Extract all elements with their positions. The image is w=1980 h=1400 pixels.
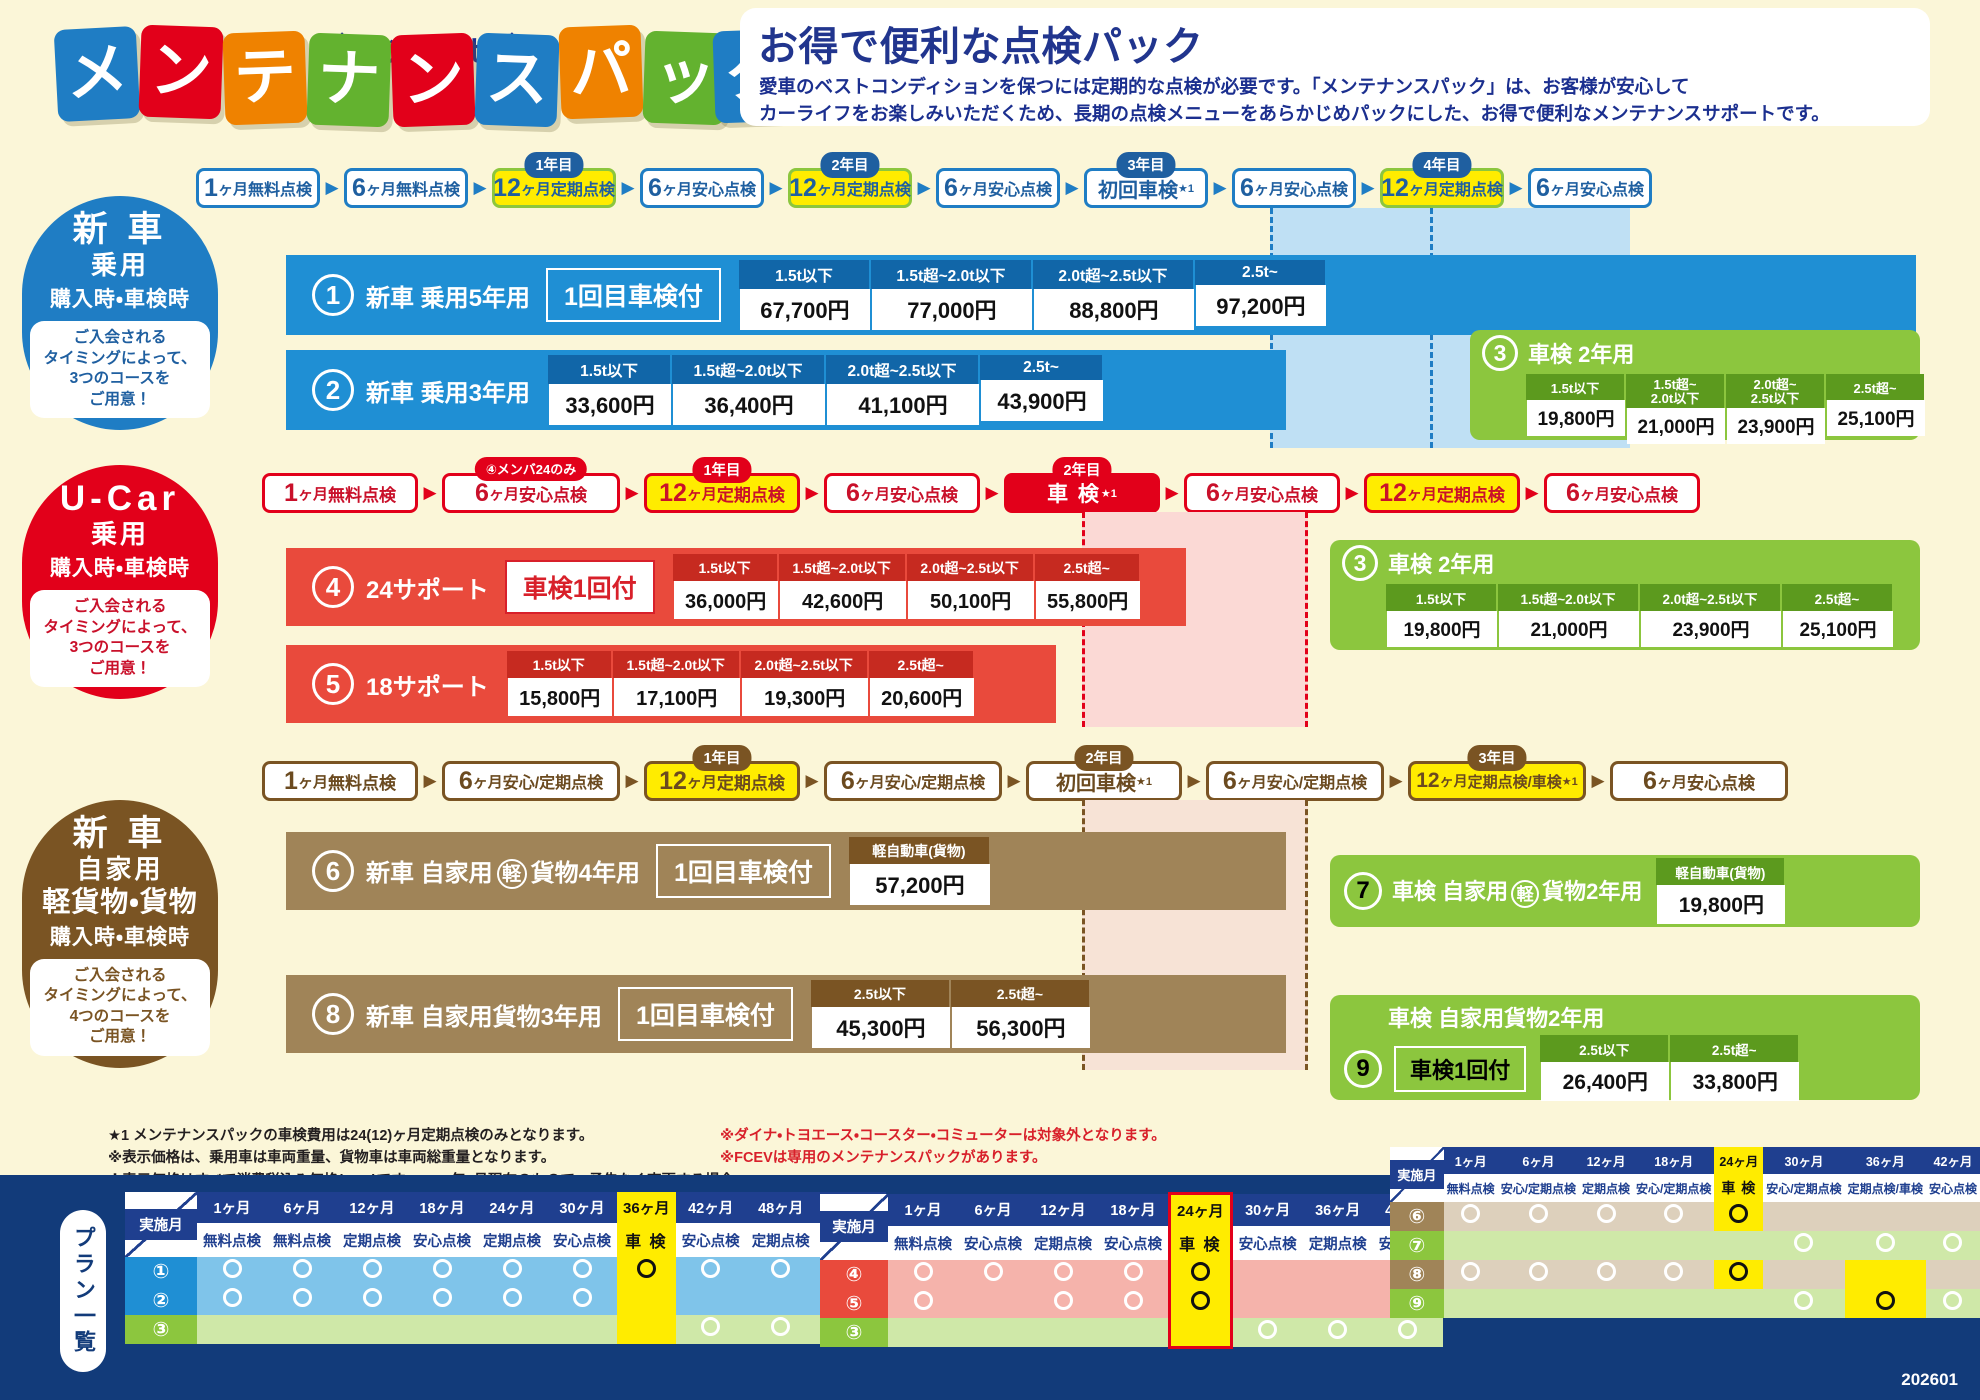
price-value: 25,100円 — [1783, 611, 1893, 647]
price-header: 2.5t以下 — [1540, 1035, 1668, 1062]
plan-bar-5: 5 18サポート 1.5t以下15,800円 1.5t超~2.0t以下17,10… — [286, 645, 1056, 723]
month-header: 1ヶ月 — [1444, 1147, 1498, 1174]
zone-divider-right — [1305, 512, 1308, 727]
month-header-highlight: 24ヶ月 — [1714, 1147, 1763, 1174]
month-header: 36ヶ月 — [1845, 1147, 1926, 1174]
circle-icon — [1597, 1204, 1616, 1223]
price-header: 2.0t超~ 2.5t以下 — [1726, 374, 1824, 408]
logo-tile-6: パ — [558, 25, 643, 120]
arrow-icon: ▶ — [1586, 771, 1610, 791]
timeline-cell-6m-3[interactable]: 6ヶ月安心点検 — [1184, 473, 1340, 513]
price-col: 2.5t超~20,600円 — [869, 651, 975, 717]
cell-empty — [1498, 1289, 1579, 1318]
circle-icon — [293, 1259, 312, 1278]
date-code: 202601 — [1901, 1370, 1958, 1390]
cell-mark — [547, 1257, 617, 1286]
kind-header: 安心点検 — [1926, 1174, 1980, 1202]
arrow-icon: ▶ — [1520, 483, 1544, 503]
cell-mark — [1498, 1260, 1579, 1289]
badge-line-3: 購入時・車検時 — [22, 283, 218, 313]
circle-icon — [701, 1317, 720, 1336]
cell-mark — [1444, 1260, 1498, 1289]
timeline-cell-6m-3[interactable]: 6ヶ月安心点検 — [936, 168, 1060, 208]
kind-header: 定期点検 — [337, 1223, 407, 1257]
timeline-cell-12m-y2[interactable]: 2年目 12ヶ月定期点検 — [788, 168, 912, 208]
price-col: 2.0t超~2.5t以下19,300円 — [741, 651, 869, 717]
corner-label: 実施月 — [1390, 1160, 1444, 1189]
plan-number: 1 — [312, 274, 354, 316]
cell-mark — [1444, 1202, 1498, 1231]
cell-empty — [407, 1315, 477, 1344]
price-table-2: 1.5t以下33,600円 1.5t超~2.0t以下36,400円 2.0t超~… — [548, 355, 1104, 426]
cell-empty — [1579, 1289, 1633, 1318]
price-value: 45,300円 — [812, 1007, 950, 1048]
price-value: 15,800円 — [508, 678, 612, 716]
plan-number: 3 — [1342, 545, 1378, 581]
timeline-shinsha-kamotsu: 1ヶ月無料点検 ▶ 6ヶ月安心/定期点検 ▶ 1年目 12ヶ月定期点検 ▶ 6ヶ… — [262, 760, 1788, 802]
price-value: 23,900円 — [1641, 611, 1781, 647]
section-badge-shinsha-joyo: 新 車 乗用 購入時・車検時 ご入会される タイミングによって、 3つのコースを… — [22, 196, 218, 430]
kind-header: 安心点検 — [407, 1223, 477, 1257]
cell-mark — [477, 1257, 547, 1286]
cell-mark — [267, 1257, 337, 1286]
row-number: ③ — [820, 1318, 888, 1347]
timeline-cell-6m-2[interactable]: 6ヶ月安心/定期点検 — [824, 761, 1002, 801]
price-header: 2.5t超~ — [1670, 1035, 1798, 1062]
price-header: 2.0t超~2.5t以下 — [1033, 260, 1193, 289]
plan-number: 7 — [1344, 872, 1382, 910]
timeline-cell-12m-2[interactable]: 12ヶ月定期点検 — [1364, 473, 1520, 513]
price-value: 20,600円 — [870, 678, 974, 716]
timeline-cell-6m-2[interactable]: 6ヶ月安心点検 — [640, 168, 764, 208]
plan-list-title: プラン一覧 — [60, 1210, 106, 1372]
table-row: ④ — [820, 1260, 1443, 1289]
arrow-icon: ▶ — [616, 178, 640, 198]
timeline-cell-6m-5[interactable]: 6ヶ月安心点検 — [1528, 168, 1652, 208]
circle-icon — [1124, 1262, 1143, 1281]
year-tag: 4年目 — [1412, 152, 1471, 178]
kind-header: 安心/定期点検 — [1763, 1174, 1844, 1202]
cell-empty — [337, 1315, 407, 1344]
price-value: 21,000円 — [1499, 611, 1639, 647]
year-tag: 1年目 — [692, 745, 751, 771]
arrow-icon: ▶ — [1208, 178, 1232, 198]
price-col: 1.5t以下19,800円 — [1526, 374, 1626, 445]
cell-empty — [1633, 1231, 1714, 1260]
plan-grid-blue: 実施月 1ヶ月 6ヶ月 12ヶ月 18ヶ月 24ヶ月 30ヶ月 36ヶ月 42ヶ… — [125, 1192, 886, 1344]
kind-header: 安心点検 — [676, 1223, 746, 1257]
cell-mark — [958, 1260, 1028, 1289]
circle-icon — [1529, 1204, 1548, 1223]
cell-mark — [1303, 1318, 1373, 1347]
circle-icon — [1664, 1262, 1683, 1281]
section-badge-shinsha-kamotsu: 新 車 自家用 軽貨物・貨物 購入時・車検時 ご入会される タイミングによって、… — [22, 800, 218, 1068]
price-header: 1.5t以下 — [507, 651, 611, 678]
plan-bar-3b: 3 車検 2年用 1.5t以下19,800円 1.5t超~2.0t以下21,00… — [1330, 540, 1920, 650]
price-header: 1.5t以下 — [1526, 374, 1624, 400]
cell-empty — [1444, 1289, 1498, 1318]
cell-mark — [676, 1315, 746, 1344]
circle-icon — [293, 1288, 312, 1307]
badge-line-2: 自家用 — [22, 854, 218, 885]
cell-empty-highlight — [1714, 1231, 1763, 1260]
price-header: 2.0t超~2.5t以下 — [741, 651, 867, 678]
arrow-icon: ▶ — [800, 771, 824, 791]
year-tag: 2年目 — [1052, 457, 1111, 483]
circle-icon — [1461, 1204, 1480, 1223]
plan-bar-9: 車検 自家用貨物2年用 9 車検1回付 2.5t以下26,400円 2.5t超~… — [1330, 995, 1920, 1100]
circle-icon — [1191, 1291, 1210, 1310]
month-header: 42ヶ月 — [1926, 1147, 1980, 1174]
timeline-cell-shaken-y2[interactable]: 2年目 初回車検★1 — [1026, 761, 1182, 801]
kind-header: 定期点検 — [477, 1223, 547, 1257]
price-col: 2.5t超~25,100円 — [1826, 374, 1926, 445]
timeline-cell-6m-3[interactable]: 6ヶ月安心/定期点検 — [1206, 761, 1384, 801]
circle-icon — [1664, 1204, 1683, 1223]
footnotes-right: ※ダイナ・トヨエース・コースター・コミューターは対象外となります。 ※FCEVは… — [720, 1125, 1320, 1170]
circle-icon — [1794, 1233, 1813, 1252]
month-header: 18ヶ月 — [1098, 1194, 1170, 1227]
price-table-9: 2.5t以下26,400円 2.5t超~33,800円 — [1540, 1035, 1800, 1102]
cell-empty — [547, 1315, 617, 1344]
plan-bar-2: 2 新車 乗用3年用 1.5t以下33,600円 1.5t超~2.0t以下36,… — [286, 350, 1286, 430]
price-value: 33,600円 — [549, 384, 671, 425]
plan-name: 24サポート — [366, 570, 489, 605]
month-header-highlight: 36ヶ月 — [617, 1192, 676, 1223]
cell-empty — [1926, 1202, 1980, 1231]
price-header: 1.5t超~ 2.0t以下 — [1626, 374, 1724, 408]
price-value: 57,200円 — [850, 864, 990, 905]
cell-mark — [197, 1257, 267, 1286]
price-value: 50,100円 — [908, 581, 1034, 619]
cell-mark — [1633, 1202, 1714, 1231]
circle-icon — [363, 1288, 382, 1307]
arrow-icon: ▶ — [1182, 771, 1206, 791]
arrow-icon: ▶ — [468, 178, 492, 198]
price-value: 77,000円 — [872, 289, 1032, 330]
price-header: 1.5t超~2.0t以下 — [779, 554, 905, 581]
kind-header: 安心点検 — [1231, 1226, 1303, 1260]
table-row: ⑧ — [1390, 1260, 1980, 1289]
month-header: 30ヶ月 — [1231, 1194, 1303, 1227]
year-tag: 3年目 — [1467, 745, 1526, 771]
arrow-icon: ▶ — [1060, 178, 1084, 198]
circle-icon — [1729, 1262, 1748, 1281]
plan-tag: 1回目車検付 — [656, 844, 831, 898]
cell-empty-highlight — [1714, 1289, 1763, 1318]
price-header: 1.5t超~2.0t以下 — [1498, 584, 1638, 611]
plan-number: 6 — [312, 850, 354, 892]
price-value: 42,600円 — [780, 581, 906, 619]
plan-name: 新車 自家用貨物3年用 — [366, 997, 602, 1032]
price-value: 19,800円 — [1657, 885, 1785, 924]
month-header: 1ヶ月 — [197, 1192, 267, 1223]
circle-icon — [1191, 1262, 1210, 1281]
table-row: ③ — [820, 1318, 1443, 1347]
kind-header: 安心点検 — [547, 1223, 617, 1257]
price-table-7: 軽自動車(貨物)19,800円 — [1656, 858, 1786, 925]
timeline-cell-6m-4[interactable]: 6ヶ月安心点検 — [1544, 473, 1700, 513]
plan-number: 5 — [312, 663, 354, 705]
month-header: 12ヶ月 — [1579, 1147, 1633, 1174]
timeline-cell-1m[interactable]: 1ヶ月無料点検 — [262, 761, 418, 801]
price-table-5: 1.5t以下15,800円 1.5t超~2.0t以下17,100円 2.0t超~… — [507, 651, 975, 717]
cell-mark — [267, 1286, 337, 1315]
table-row-kinds: 無料点検 無料点検 定期点検 安心点検 定期点検 安心点検 車 検 安心点検 定… — [125, 1223, 886, 1257]
timeline-cell-shaken-y3[interactable]: 3年目 初回車検★1 — [1084, 168, 1208, 208]
kind-header: 定期点検 — [1028, 1226, 1098, 1260]
month-header: 36ヶ月 — [1303, 1194, 1373, 1227]
cell-mark — [1926, 1231, 1980, 1260]
badge-note: ご入会される タイミングによって、 3つのコースを ご用意！ — [30, 590, 210, 687]
corner-cell: 実施月 — [1390, 1147, 1444, 1202]
timeline-cell-6m-4[interactable]: 6ヶ月安心点検 — [1232, 168, 1356, 208]
price-col: 2.5t以下45,300円 — [811, 980, 951, 1049]
cell-mark — [1231, 1318, 1303, 1347]
circle-icon — [914, 1291, 933, 1310]
circle-icon — [1597, 1262, 1616, 1281]
price-value: 41,100円 — [827, 384, 979, 425]
price-header: 1.5t以下 — [548, 355, 670, 384]
kind-header: 定期点検 — [746, 1223, 816, 1257]
cell-empty-highlight — [1170, 1318, 1232, 1347]
price-col: 1.5t以下33,600円 — [548, 355, 672, 426]
cell-mark-highlight — [1714, 1202, 1763, 1231]
cell-empty — [1845, 1202, 1926, 1231]
timeline-ucar-joyo: 1ヶ月無料点検 ▶ ④メンバ24のみ 6ヶ月安心点検 ▶ 1年目 12ヶ月定期点… — [262, 472, 1700, 514]
badge-line-2: 乗用 — [22, 519, 218, 550]
footnote-line: ※ダイナ・トヨエース・コースター・コミューターは対象外となります。 — [720, 1125, 1320, 1147]
circle-icon — [433, 1259, 452, 1278]
timeline-cell-shaken-y2[interactable]: 2年目 車 検★1 — [1004, 473, 1160, 513]
arrow-icon: ▶ — [320, 178, 344, 198]
header-panel: お得で便利な点検パック 愛車のベストコンディションを保つには定期的な点検が必要で… — [740, 8, 1930, 126]
arrow-icon: ▶ — [980, 483, 1004, 503]
cell-mark — [1498, 1202, 1579, 1231]
footnote-line: ※FCEVは専用のメンテナンスパックがあります。 — [720, 1147, 1320, 1169]
cell-mark — [746, 1257, 816, 1286]
cell-mark — [888, 1260, 958, 1289]
kind-header: 無料点検 — [888, 1226, 958, 1260]
price-col: 2.5t超~25,100円 — [1782, 584, 1894, 648]
plan-number: 9 — [1344, 1050, 1382, 1088]
timeline-cell-6m-member24[interactable]: ④メンバ24のみ 6ヶ月安心点検 — [442, 473, 620, 513]
cell-mark — [676, 1257, 746, 1286]
cell-mark — [1633, 1260, 1714, 1289]
timeline-cell-6m[interactable]: 6ヶ月無料点検 — [344, 168, 468, 208]
price-header: 軽自動車(貨物) — [849, 837, 989, 864]
cell-mark — [407, 1257, 477, 1286]
logo-tile-0: メ — [54, 26, 141, 122]
circle-icon — [1124, 1291, 1143, 1310]
cell-mark — [746, 1315, 816, 1344]
timeline-cell-1m[interactable]: 1ヶ月無料点検 — [196, 168, 320, 208]
price-header: 1.5t超~2.0t以下 — [672, 355, 824, 384]
timeline-cell-12m-y1[interactable]: 1年目 12ヶ月定期点検 — [644, 473, 800, 513]
badge-line-2b: 軽貨物・貨物 — [22, 885, 218, 919]
circle-icon — [984, 1262, 1003, 1281]
cell-mark — [1579, 1202, 1633, 1231]
price-value: 88,800円 — [1034, 289, 1194, 330]
cell-mark — [337, 1286, 407, 1315]
row-number: ③ — [125, 1315, 197, 1344]
price-col: 2.0t超~2.5t以下23,900円 — [1640, 584, 1782, 648]
month-header: 18ヶ月 — [407, 1192, 477, 1223]
table-row-kinds: 無料点検 安心点検 定期点検 安心点検 車 検 安心点検 定期点検 安心点検 — [820, 1226, 1443, 1260]
price-col: 2.5t超~56,300円 — [951, 980, 1091, 1049]
timeline-cell-6m[interactable]: 6ヶ月安心/定期点検 — [442, 761, 620, 801]
circle-icon — [1794, 1291, 1813, 1310]
circle-icon — [1258, 1320, 1277, 1339]
circle-icon — [1529, 1262, 1548, 1281]
cell-empty — [1763, 1260, 1844, 1289]
timeline-cell-12m-y1[interactable]: 1年目 12ヶ月定期点検 — [644, 761, 800, 801]
timeline-cell-12m-y3[interactable]: 3年目 12ヶ月定期点検/車検★1 — [1408, 761, 1586, 801]
circle-icon — [1328, 1320, 1347, 1339]
month-header: 12ヶ月 — [1028, 1194, 1098, 1227]
price-header: 1.5t以下 — [739, 260, 869, 289]
price-value: 67,700円 — [740, 289, 870, 330]
price-col: 1.5t以下15,800円 — [507, 651, 613, 717]
price-col: 1.5t超~2.0t以下42,600円 — [779, 554, 907, 620]
arrow-icon: ▶ — [418, 483, 442, 503]
table-row: ① — [125, 1257, 886, 1286]
timeline-shinsha-joyo: 1ヶ月無料点検 ▶ 6ヶ月無料点検 ▶ 1年目 12ヶ月定期点検 ▶ 6ヶ月安心… — [196, 167, 1652, 209]
price-value: 23,900円 — [1727, 408, 1825, 444]
cell-mark-highlight — [1845, 1289, 1926, 1318]
circle-icon — [1943, 1291, 1962, 1310]
circle-icon — [433, 1288, 452, 1307]
month-header: 30ヶ月 — [547, 1192, 617, 1223]
cell-empty — [1231, 1289, 1303, 1318]
plan-number: 8 — [312, 993, 354, 1035]
plan-bar-4: 4 24サポート 車検1回付 1.5t以下36,000円 1.5t超~2.0t以… — [286, 548, 1186, 626]
kind-header: 無料点検 — [1444, 1174, 1498, 1202]
plan-number: 3 — [1482, 335, 1518, 371]
price-table-3b: 1.5t以下19,800円 1.5t超~2.0t以下21,000円 2.0t超~… — [1386, 584, 1894, 648]
timeline-cell-6m-4[interactable]: 6ヶ月安心点検 — [1610, 761, 1788, 801]
table-row-months: 実施月 1ヶ月 6ヶ月 12ヶ月 18ヶ月 24ヶ月 30ヶ月 36ヶ月 42ヶ… — [1390, 1147, 1980, 1174]
kind-header-highlight: 車 検 — [617, 1223, 676, 1257]
badge-line-3: 購入時・車検時 — [22, 552, 218, 582]
corner-label: 実施月 — [125, 1209, 197, 1240]
cell-empty — [676, 1286, 746, 1315]
table-row: ⑤ — [820, 1289, 1443, 1318]
plan-name: 車検 自家用貨物2年用 — [1388, 1001, 1604, 1033]
cell-mark — [888, 1289, 958, 1318]
footnote-line: ★1 メンテナンスパックの車検費用は24(12)ヶ月定期点検のみとなります。 — [108, 1125, 748, 1147]
cell-mark — [1028, 1260, 1098, 1289]
table-row-kinds: 無料点検 安心/定期点検 定期点検 安心/定期点検 車 検 安心/定期点検 定期… — [1390, 1174, 1980, 1202]
row-number: ⑨ — [1390, 1289, 1444, 1318]
circle-icon — [503, 1288, 522, 1307]
year-tag: 1年目 — [692, 457, 751, 483]
kind-header: 安心点検 — [958, 1226, 1028, 1260]
table-row: ② — [125, 1286, 886, 1315]
kind-header-highlight: 車 検 — [1170, 1226, 1232, 1260]
row-number: ② — [125, 1286, 197, 1315]
circle-icon — [1461, 1262, 1480, 1281]
arrow-icon: ▶ — [418, 771, 442, 791]
logo-tile-2: テ — [222, 31, 307, 126]
price-col: 1.5t超~2.0t以下17,100円 — [613, 651, 741, 717]
cell-mark — [1763, 1289, 1844, 1318]
plan-bar-1: 1 新車 乗用5年用 1回目車検付 1.5t以下67,700円 1.5t超~2.… — [286, 255, 1916, 335]
month-header: 6ヶ月 — [267, 1192, 337, 1223]
arrow-icon: ▶ — [1340, 483, 1364, 503]
month-header: 24ヶ月 — [477, 1192, 547, 1223]
price-header: 2.0t超~2.5t以下 — [826, 355, 978, 384]
month-header: 6ヶ月 — [958, 1194, 1028, 1227]
price-col: 2.5t超~33,800円 — [1670, 1035, 1800, 1102]
price-header: 2.5t~ — [1195, 260, 1325, 285]
timeline-cell-12m-y1[interactable]: 1年目 12ヶ月定期点検 — [492, 168, 616, 208]
cell-mark — [1845, 1231, 1926, 1260]
circle-icon — [1054, 1291, 1073, 1310]
cell-mark — [197, 1286, 267, 1315]
plan-grid-red: 実施月 1ヶ月 6ヶ月 12ヶ月 18ヶ月 24ヶ月 30ヶ月 36ヶ月 42ヶ… — [820, 1192, 1443, 1349]
price-header: 2.5t以下 — [811, 980, 949, 1007]
badge-line-1: 新 車 — [22, 210, 218, 250]
row-number: ④ — [820, 1260, 888, 1289]
price-col: 1.5t超~2.0t以下77,000円 — [871, 260, 1033, 331]
brand-logo: ＼ おまかせ ／ メ ン テ ナ ン ス パ ッ ク — [48, 10, 748, 128]
arrow-icon: ▶ — [800, 483, 824, 503]
price-header: 2.5t超~ — [1826, 374, 1924, 400]
circle-icon — [771, 1259, 790, 1278]
logo-tile-4: ン — [390, 33, 475, 128]
price-col: 1.5t超~ 2.0t以下21,000円 — [1626, 374, 1726, 445]
price-header: 2.5t~ — [980, 355, 1102, 380]
price-col: 1.5t以下19,800円 — [1386, 584, 1498, 648]
cell-empty — [1763, 1202, 1844, 1231]
price-header: 1.5t以下 — [1386, 584, 1496, 611]
timeline-cell-12m-y4[interactable]: 4年目 12ヶ月定期点検 — [1380, 168, 1504, 208]
plan-tag: 車検1回付 — [1394, 1046, 1526, 1092]
logo-tile-3: ナ — [306, 33, 391, 128]
price-col: 2.0t超~2.5t以下88,800円 — [1033, 260, 1195, 331]
logo-tile-1: ン — [138, 25, 223, 120]
cell-empty-highlight — [617, 1286, 676, 1315]
arrow-icon: ▶ — [912, 178, 936, 198]
plan-name: 車検 2年用 — [1528, 337, 1634, 369]
row-number: ⑧ — [1390, 1260, 1444, 1289]
circle-icon — [701, 1259, 720, 1278]
circle-icon — [573, 1288, 592, 1307]
timeline-cell-1m[interactable]: 1ヶ月無料点検 — [262, 473, 418, 513]
price-table-3: 1.5t以下19,800円 1.5t超~ 2.0t以下21,000円 2.0t超… — [1526, 374, 1926, 445]
timeline-cell-6m-2[interactable]: 6ヶ月安心点検 — [824, 473, 980, 513]
price-value: 56,300円 — [952, 1007, 1090, 1048]
corner-label: 実施月 — [820, 1211, 888, 1242]
price-col: 2.5t以下26,400円 — [1540, 1035, 1670, 1102]
table-row: ⑥ — [1390, 1202, 1980, 1231]
plan-name: 車検 2年用 — [1388, 547, 1494, 579]
cell-mark-highlight — [1170, 1260, 1232, 1289]
cell-empty — [1633, 1289, 1714, 1318]
corner-cell: 実施月 — [820, 1194, 888, 1261]
cell-empty — [958, 1318, 1028, 1347]
cell-empty — [1098, 1318, 1170, 1347]
price-col: 2.0t超~2.5t以下50,100円 — [907, 554, 1035, 620]
circle-icon — [637, 1259, 656, 1278]
kind-header: 無料点検 — [197, 1223, 267, 1257]
price-value: 19,800円 — [1387, 611, 1497, 647]
year-tag: 1年目 — [524, 152, 583, 178]
plan-name: 新車 乗用5年用 — [366, 278, 530, 313]
price-col: 2.5t~97,200円 — [1195, 260, 1327, 331]
cell-empty — [888, 1318, 958, 1347]
